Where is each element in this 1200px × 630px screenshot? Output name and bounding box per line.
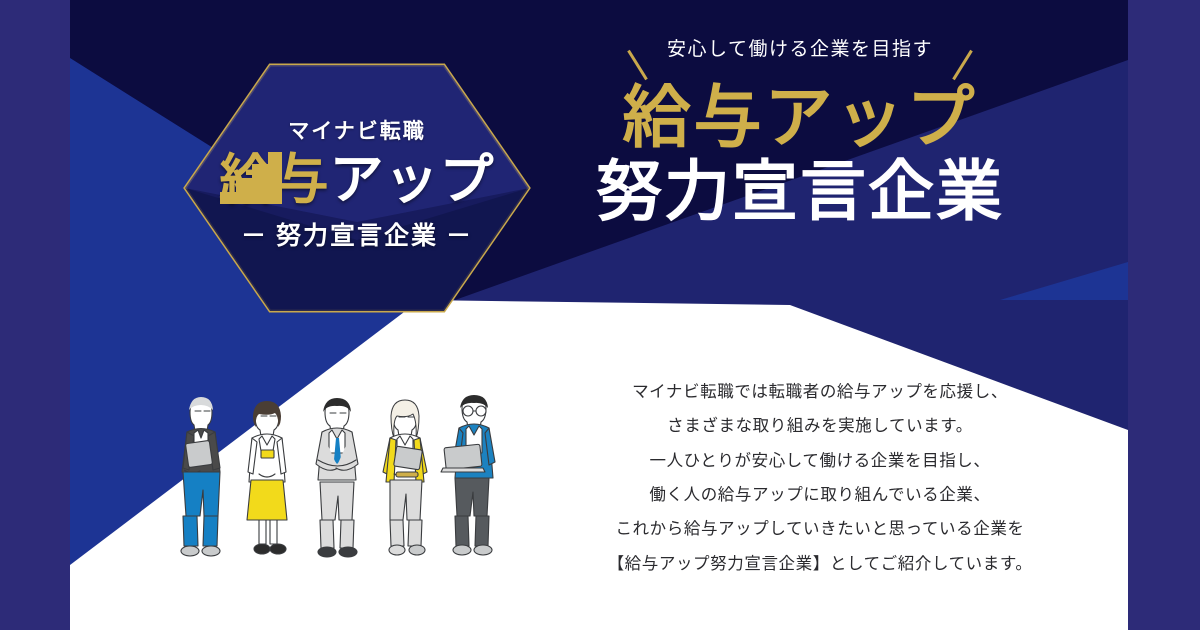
- five-business-people-illustration: [162, 386, 522, 572]
- badge-subtitle: －努力宣言企業－: [233, 224, 481, 249]
- badge-subtitle-text: 努力宣言企業: [276, 222, 438, 250]
- body-line-1: マイナビ転職では転職者の給与アップを応援し、: [570, 375, 1070, 409]
- headline-block: 安心して働ける企業を目指す 給与アップ 努力宣言企業: [560, 34, 1040, 229]
- headline-line-gold: 給与アップ: [560, 82, 1040, 155]
- badge-brand-label: マイナビ転職: [288, 121, 426, 142]
- badge-dash-left: －: [233, 222, 276, 250]
- person-tablet-blue-jeans: [181, 397, 220, 556]
- badge-content: マイナビ転職 給与アップ －努力宣言企業－: [182, 62, 532, 314]
- badge-main-white: アップ: [330, 150, 495, 210]
- person-yellow-cardigan: [383, 400, 427, 555]
- body-line-6: 【給与アップ努力宣言企業】としてご紹介しています。: [570, 547, 1070, 581]
- body-line-3: 一人ひとりが安心して働ける企業を目指し、: [570, 444, 1070, 478]
- person-grey-suit-tie: [316, 398, 358, 557]
- headline-line-white: 努力宣言企業: [560, 155, 1040, 229]
- hero-banner: マイナビ転職 給与アップ －努力宣言企業－ 安心して働ける企業を目指す 給与アッ…: [0, 0, 1200, 630]
- left-side-band: [0, 0, 70, 630]
- badge-dash-right: －: [438, 222, 481, 250]
- body-line-5: これから給与アップしていきたいと思っている企業を: [570, 512, 1070, 546]
- tagline-wrap: 安心して働ける企業を目指す: [560, 34, 1040, 80]
- stair-step-icon: [220, 152, 282, 204]
- body-line-2: さまざまな取り組みを実施しています。: [570, 409, 1070, 443]
- logo-badge: マイナビ転職 給与アップ －努力宣言企業－: [182, 62, 532, 314]
- person-yellow-skirt: [247, 401, 287, 554]
- badge-main-title: 給与アップ: [220, 152, 495, 209]
- body-line-4: 働く人の給与アップに取り組んでいる企業、: [570, 478, 1070, 512]
- right-side-band: [1128, 0, 1200, 630]
- body-copy: マイナビ転職では転職者の給与アップを応援し、 さまざまな取り組みを実施しています…: [570, 375, 1070, 581]
- person-laptop-blue-jacket: [441, 395, 495, 555]
